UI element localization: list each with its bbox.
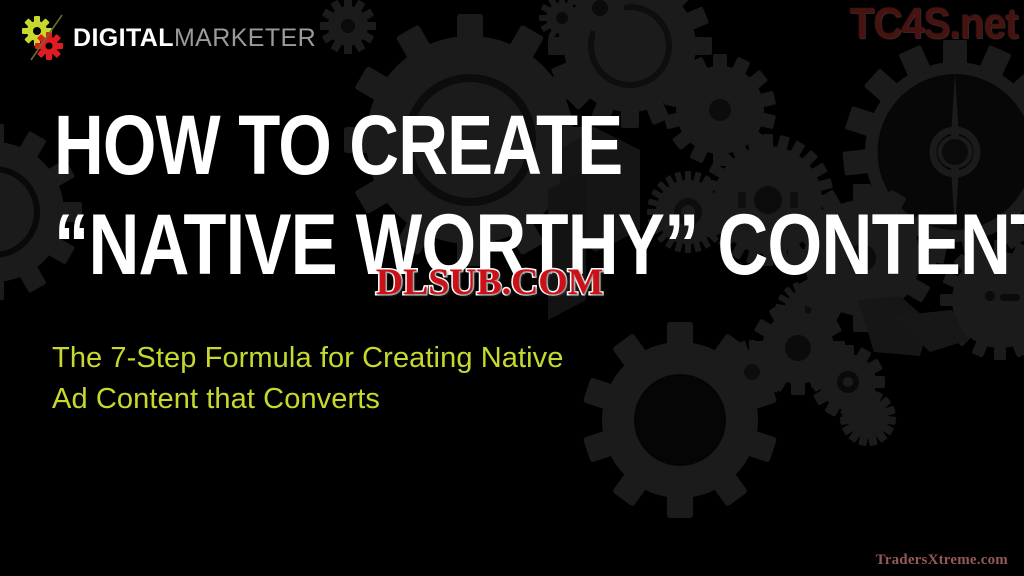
logo-word-marketer: MARKETER bbox=[174, 24, 316, 52]
subtitle-line-1: The 7-Step Formula for Creating Native bbox=[52, 338, 564, 379]
watermark-dlsub: DLSUB.COM bbox=[370, 262, 610, 305]
watermark-tc4s: TC4S.net bbox=[850, 2, 1018, 46]
slide-title: HOW TO CREATE “NATIVE WORTHY” CONTENT bbox=[54, 104, 994, 288]
subtitle-line-2: Ad Content that Converts bbox=[52, 379, 564, 420]
title-line-1: HOW TO CREATE bbox=[54, 104, 825, 187]
logo-wordmark: DIGITALMARKETER bbox=[73, 26, 316, 51]
logo-word-digital: DIGITAL bbox=[73, 24, 174, 52]
two-gears-logo-icon bbox=[18, 14, 72, 62]
digitalmarketer-logo[interactable]: DIGITALMARKETER bbox=[18, 14, 316, 62]
slide-subtitle: The 7-Step Formula for Creating Native A… bbox=[52, 338, 564, 420]
presentation-slide: DIGITALMARKETER HOW TO CREATE “NATIVE WO… bbox=[0, 0, 1024, 576]
watermark-tradersxtreme: TradersXtreme.com bbox=[876, 553, 1008, 568]
